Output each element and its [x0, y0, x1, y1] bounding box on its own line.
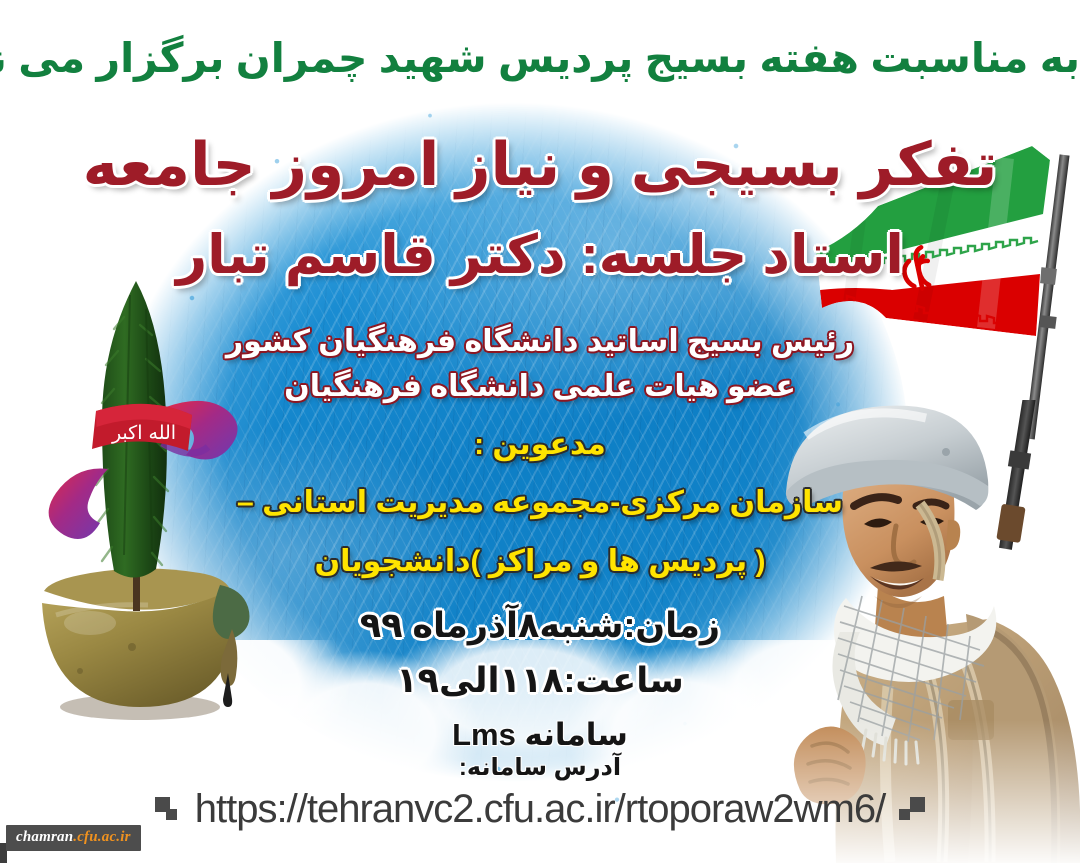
event-url-link[interactable]: https://tehranvc2.cfu.ac.ir/rtoporaw2wm6… — [195, 787, 885, 832]
poster-canvas: الله اکبر به مناسبت هفته بسیج پردیس شهید… — [0, 0, 1080, 863]
address-label: آدرس سامانه: — [0, 755, 1080, 781]
speaker-role-line-2: عضو هیات علمی دانشگاه فرهنگیان — [0, 370, 1080, 403]
event-url-row[interactable]: https://tehranvc2.cfu.ac.ir/rtoporaw2wm6… — [0, 787, 1080, 832]
invitees-line-2: ( پردیس ها و مراکز )دانشجویان — [0, 545, 1080, 578]
invitees-line-1: سازمان مرکزی-مجموعه مدیریت استانی – — [0, 486, 1080, 519]
poster-title-line-1: تفکر بسیجی و نیاز امروز جامعه — [0, 132, 1080, 198]
watermark-brand: chamran — [16, 829, 73, 845]
event-platform-line: سامانه Lms — [0, 718, 1080, 752]
event-time-line: ساعت:۱۱۸الی۱۹ — [0, 662, 1080, 701]
watermark-domain: .cfu.ac.ir — [73, 829, 130, 845]
event-date-line: زمان:شنبه۸آذرماه ۹۹ — [0, 607, 1080, 646]
rifle — [995, 400, 1048, 551]
poster-header-line: به مناسبت هفته بسیج پردیس شهید چمران برگ… — [0, 36, 1080, 81]
square-bullet-icon — [155, 797, 181, 823]
poster-title-line-2: استاد جلسه: دکتر قاسم تبار — [0, 226, 1080, 285]
invitees-label: مدعوین : — [0, 428, 1080, 461]
site-watermark: chamran.cfu.ac.ir — [6, 825, 141, 851]
speaker-role-line-1: رئیس بسیج اساتید دانشگاه فرهنگیان کشور — [0, 325, 1080, 358]
square-bullet-icon-right — [899, 797, 925, 823]
